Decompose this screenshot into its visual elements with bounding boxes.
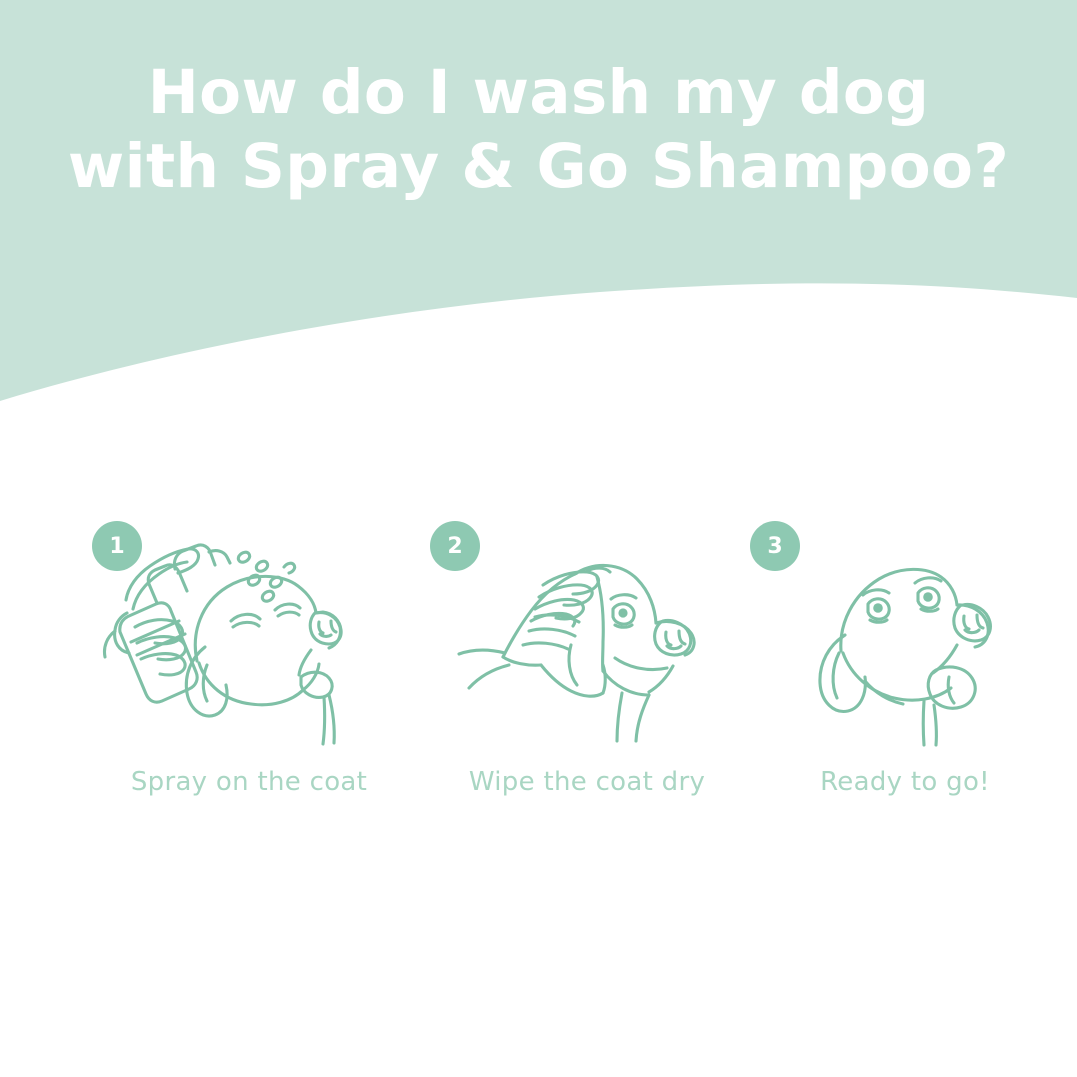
step-item-3: 3 [735, 505, 1075, 835]
title-line-2: with Spray & Go Shampoo? [0, 130, 1077, 204]
step-caption-3: Ready to go! [735, 767, 1075, 797]
page-title: How do I wash my dog with Spray & Go Sha… [0, 56, 1077, 204]
step-number-badge-1: 1 [92, 521, 142, 571]
step-caption-1: Spray on the coat [79, 767, 419, 797]
step-number-badge-3: 3 [750, 521, 800, 571]
step-caption-2: Wipe the coat dry [417, 767, 757, 797]
poster-canvas: How do I wash my dog with Spray & Go Sha… [0, 0, 1077, 1077]
title-line-1: How do I wash my dog [0, 56, 1077, 130]
steps-row: 1 [0, 505, 1077, 835]
step-number-badge-2: 2 [430, 521, 480, 571]
step-item-1: 1 [79, 505, 419, 835]
step-item-2: 2 [417, 505, 757, 835]
